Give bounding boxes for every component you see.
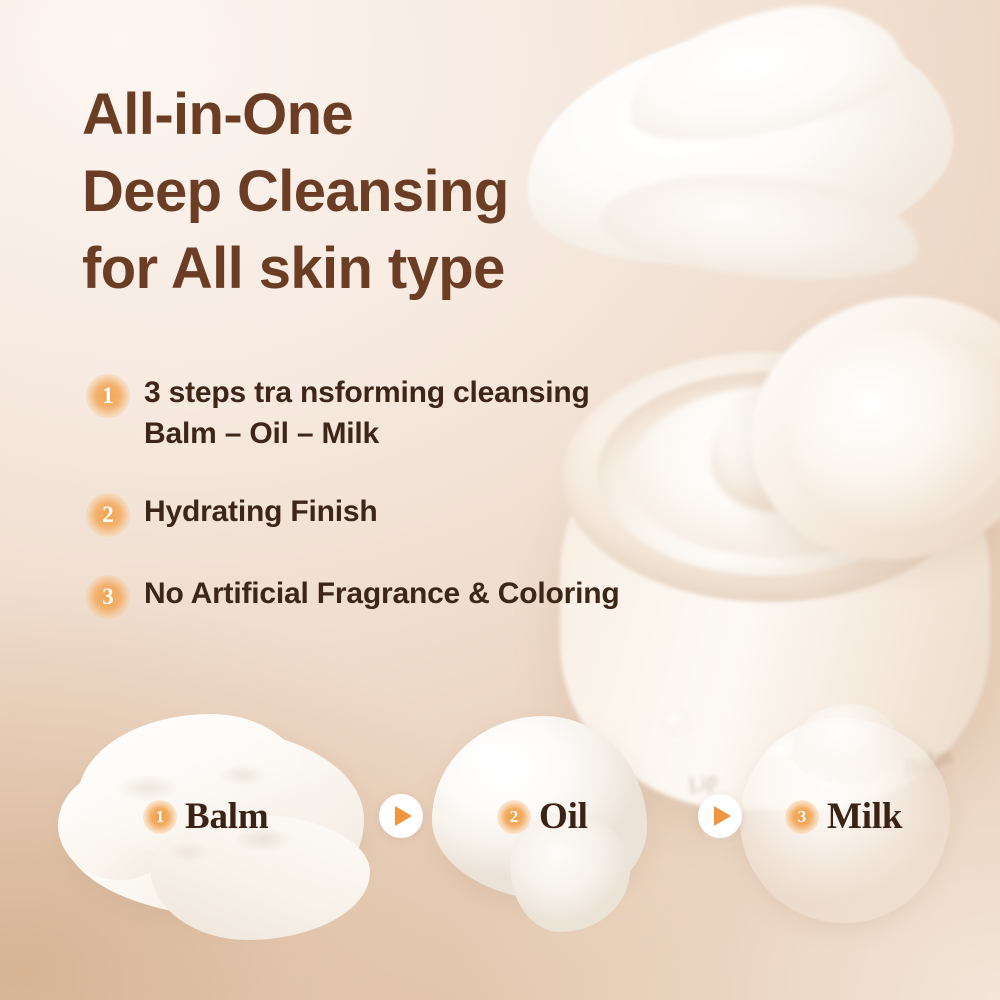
step-label-oil: 2 Oil <box>497 795 588 838</box>
feature-text-3-line-1: No Artificial Fragrance & Coloring <box>144 574 620 615</box>
page-title-line-3: for All skin type <box>82 230 702 307</box>
feature-text-1: 3 steps tra nsforming cleansing Balm – O… <box>144 372 590 455</box>
play-arrow-oil-to-milk <box>698 794 742 838</box>
step-number-badge-2: 2 <box>497 800 531 834</box>
number-badge-3: 3 <box>86 575 130 619</box>
step-label-text: Balm <box>185 795 268 838</box>
page-title-line-1: All-in-One <box>82 76 702 153</box>
feature-text-2-line-1: Hydrating Finish <box>144 492 377 533</box>
step-label-balm: 1 Balm <box>143 795 268 838</box>
step-label-milk: 3 Milk <box>785 795 902 838</box>
milk-shape-top <box>792 704 902 784</box>
page-title-line-2: Deep Cleansing <box>82 153 702 230</box>
badge-number-label: 2 <box>86 493 130 537</box>
step-number-badge-1: 1 <box>143 800 177 834</box>
play-triangle-icon <box>714 806 731 826</box>
step-badge-number: 3 <box>785 800 819 834</box>
step-label-text: Oil <box>539 795 588 838</box>
step-number-badge-3: 3 <box>785 800 819 834</box>
texture-swatch-strip <box>0 690 1000 1000</box>
feature-list: 1 3 steps tra nsforming cleansing Balm –… <box>86 372 866 619</box>
feature-text-1-line-2: Balm – Oil – Milk <box>144 414 590 455</box>
product-feature-poster: Lip utter Balm All-in-One Deep Cleansing… <box>0 0 1000 1000</box>
feature-text-3: No Artificial Fragrance & Coloring <box>144 573 620 615</box>
step-badge-number: 2 <box>497 800 531 834</box>
number-badge-2: 2 <box>86 493 130 537</box>
number-badge-1: 1 <box>86 374 130 418</box>
play-arrow-balm-to-oil <box>379 794 423 838</box>
feature-item-1: 1 3 steps tra nsforming cleansing Balm –… <box>86 372 866 455</box>
oil-droplet <box>660 708 694 738</box>
badge-number-label: 3 <box>86 575 130 619</box>
feature-item-3: 3 No Artificial Fragrance & Coloring <box>86 573 866 619</box>
feature-text-2: Hydrating Finish <box>144 491 377 533</box>
page-title: All-in-One Deep Cleansing for All skin t… <box>82 76 702 307</box>
feature-text-1-line-1: 3 steps tra nsforming cleansing <box>144 373 590 414</box>
feature-item-2: 2 Hydrating Finish <box>86 491 866 537</box>
badge-number-label: 1 <box>86 374 130 418</box>
play-triangle-icon <box>395 806 412 826</box>
step-badge-number: 1 <box>143 800 177 834</box>
step-label-text: Milk <box>827 795 902 838</box>
